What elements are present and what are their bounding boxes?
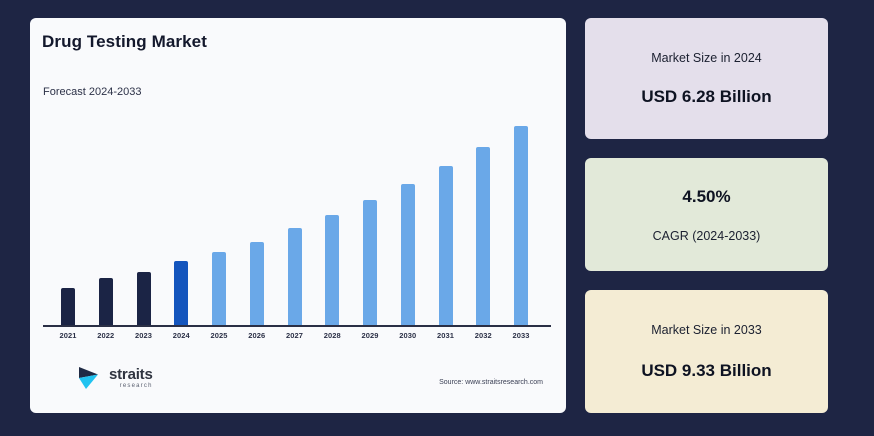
stat-card-value: 4.50% (682, 187, 730, 207)
bar-2030 (401, 184, 415, 325)
stat-card-value: USD 6.28 Billion (641, 87, 771, 107)
chart-footer: straits research Source: www.straitsrese… (43, 365, 553, 399)
bar-2033 (514, 126, 528, 325)
bar-2025 (212, 252, 226, 325)
chart-panel: Drug Testing Market Forecast 2024-2033 2… (30, 18, 566, 413)
bar-chart-plot-area: 2021202220232024202520262027202820292030… (43, 113, 553, 325)
x-axis-label-2029: 2029 (355, 331, 385, 340)
bar-slot (506, 113, 536, 325)
bar-slot (280, 113, 310, 325)
bar-2022 (99, 278, 113, 325)
bar-slot (317, 113, 347, 325)
x-axis-label-2024: 2024 (166, 331, 196, 340)
bar-slot (431, 113, 461, 325)
bar-2023 (137, 272, 151, 325)
x-axis-label-2022: 2022 (91, 331, 121, 340)
logo-wordmark: straits research (109, 367, 153, 389)
x-axis-label-2028: 2028 (317, 331, 347, 340)
chart-subtitle: Forecast 2024-2033 (43, 86, 141, 98)
x-axis-tick-labels: 2021202220232024202520262027202820292030… (43, 331, 548, 340)
infographic-root: Drug Testing Market Forecast 2024-2033 2… (0, 0, 874, 436)
stat-card-value: USD 9.33 Billion (641, 361, 771, 381)
bar-slot (129, 113, 159, 325)
logo-subtitle: research (109, 383, 153, 389)
x-axis-label-2025: 2025 (204, 331, 234, 340)
stat-card-label: CAGR (2024-2033) (653, 229, 761, 243)
bar-slot (91, 113, 121, 325)
stat-card-cagr: 4.50% CAGR (2024-2033) (585, 158, 828, 271)
straits-research-logo: straits research (77, 365, 153, 391)
x-axis-label-2027: 2027 (280, 331, 310, 340)
x-axis-label-2031: 2031 (431, 331, 461, 340)
logo-name: straits (109, 367, 153, 382)
bar-slot (242, 113, 272, 325)
x-axis-line (43, 325, 551, 327)
arrow-logo-icon (77, 365, 105, 391)
bar-slot (166, 113, 196, 325)
bar-slot (355, 113, 385, 325)
bar-2026 (250, 242, 264, 325)
bar-slot (204, 113, 234, 325)
x-axis-label-2032: 2032 (468, 331, 498, 340)
bar-2021 (61, 288, 75, 325)
bar-2028 (325, 215, 339, 325)
x-axis-label-2030: 2030 (393, 331, 423, 340)
x-axis-label-2026: 2026 (242, 331, 272, 340)
bar-2029 (363, 200, 377, 325)
bar-2024 (174, 261, 188, 325)
chart-title: Drug Testing Market (42, 32, 207, 52)
stat-card-label: Market Size in 2033 (651, 323, 761, 337)
x-axis-label-2023: 2023 (129, 331, 159, 340)
bar-2027 (288, 228, 302, 325)
stat-card-market-size-2024: Market Size in 2024 USD 6.28 Billion (585, 18, 828, 139)
source-note: Source: www.straitsresearch.com (439, 379, 543, 386)
bar-slot (468, 113, 498, 325)
bar-slot (53, 113, 83, 325)
bar-2031 (439, 166, 453, 325)
bar-slot (393, 113, 423, 325)
stat-card-label: Market Size in 2024 (651, 51, 761, 65)
bar-2032 (476, 147, 490, 325)
x-axis-label-2033: 2033 (506, 331, 536, 340)
x-axis-label-2021: 2021 (53, 331, 83, 340)
bar-series (43, 113, 548, 325)
stat-card-market-size-2033: Market Size in 2033 USD 9.33 Billion (585, 290, 828, 413)
